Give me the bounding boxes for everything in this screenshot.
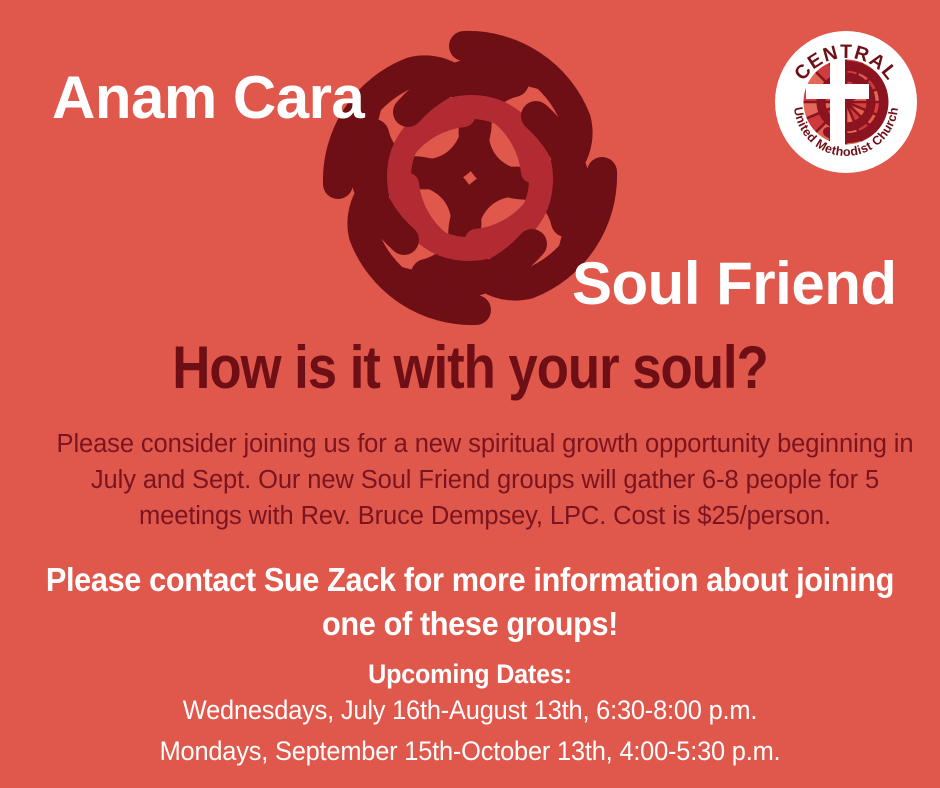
upcoming-dates-block: Upcoming Dates: Wednesdays, July 16th-Au…	[0, 658, 940, 771]
title-soul-friend: Soul Friend	[572, 254, 897, 314]
headline-question: How is it with your soul?	[56, 336, 883, 399]
title-anam-cara: Anam Cara	[52, 68, 364, 128]
contact-call-to-action: Please contact Sue Zack for more informa…	[40, 558, 899, 645]
central-umc-logo: CENTRAL United Methodist Church	[772, 28, 920, 176]
date-line-wednesdays: Wednesdays, July 16th-August 13th, 6:30-…	[28, 690, 912, 731]
date-line-mondays: Mondays, September 15th-October 13th, 4:…	[28, 731, 912, 772]
anam-cara-flyer: Anam Cara Soul Friend	[0, 0, 940, 788]
upcoming-dates-heading: Upcoming Dates:	[33, 658, 907, 690]
body-paragraph: Please consider joining us for a new spi…	[48, 426, 922, 535]
